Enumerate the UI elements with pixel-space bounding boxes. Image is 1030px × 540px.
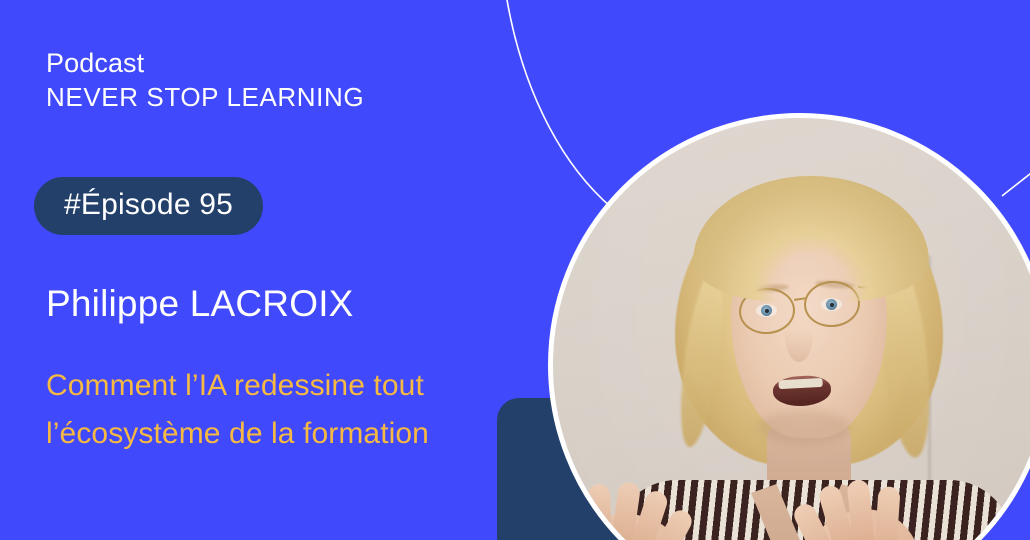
show-name: NEVER STOP LEARNING: [46, 83, 364, 112]
guest-portrait-circle: [548, 113, 1030, 540]
photo-color-grade: [553, 118, 1030, 540]
guest-portrait-image: [553, 118, 1030, 540]
episode-number-badge: #Épisode 95: [34, 177, 263, 235]
podcast-kicker: Podcast: [46, 49, 144, 79]
text-column: Podcast NEVER STOP LEARNING #Épisode 95 …: [46, 0, 516, 540]
guest-name: Philippe LACROIX: [46, 283, 354, 325]
podcast-episode-card: Podcast NEVER STOP LEARNING #Épisode 95 …: [0, 0, 1030, 540]
episode-title: Comment l’IA redessine tout l’écosystème…: [46, 362, 466, 457]
